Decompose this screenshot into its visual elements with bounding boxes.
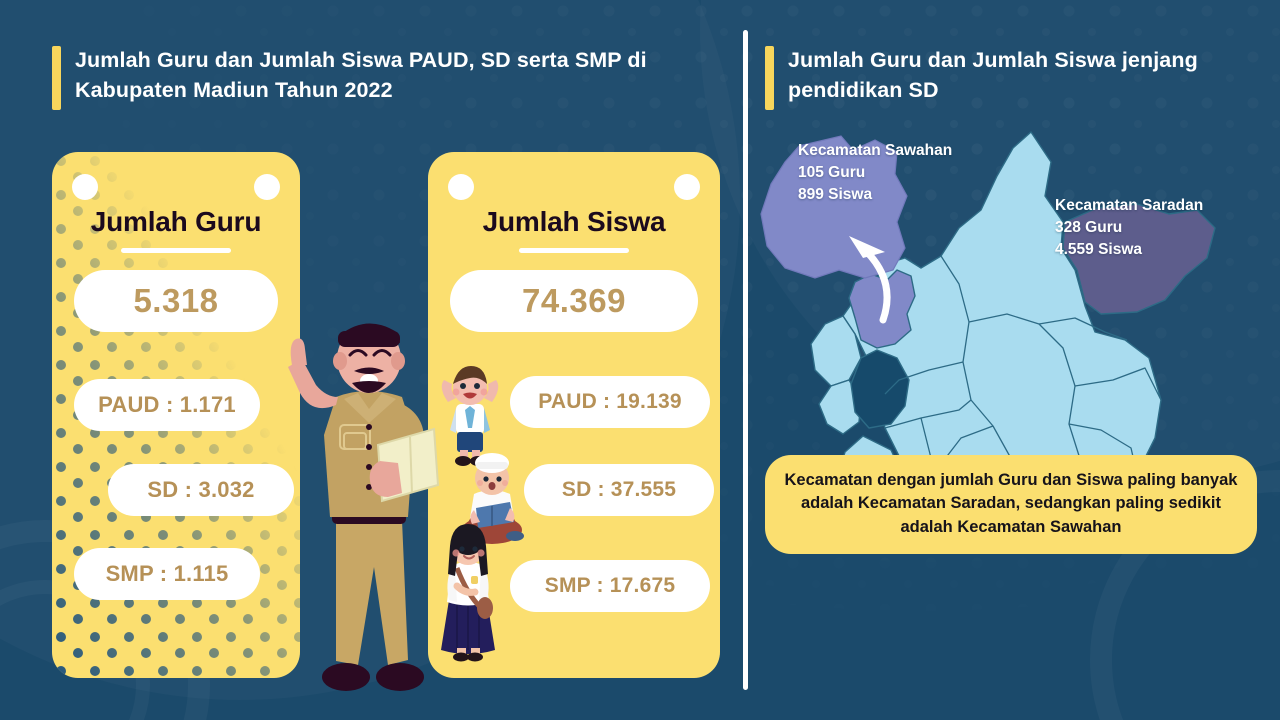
saradan-name: Kecamatan Saradan (1055, 195, 1203, 217)
title-accent-bar (765, 46, 774, 110)
card-punch-hole-right (254, 174, 280, 200)
guru-smp-pill: SMP : 1.115 (74, 548, 260, 600)
card-divider-rule (519, 248, 629, 253)
guru-paud-pill: PAUD : 1.171 (74, 379, 260, 431)
siswa-smp-pill: SMP : 17.675 (510, 560, 710, 612)
card-punch-hole-left (72, 174, 98, 200)
map-label-sawahan: Kecamatan Sawahan 105 Guru 899 Siswa (798, 140, 952, 206)
left-title-block: Jumlah Guru dan Jumlah Siswa PAUD, SD se… (52, 46, 712, 110)
siswa-sd-pill: SD : 37.555 (524, 464, 714, 516)
total-guru-value: 5.318 (74, 270, 278, 332)
card-punch-hole-left (448, 174, 474, 200)
right-title-block: Jumlah Guru dan Jumlah Siswa jenjang pen… (765, 46, 1235, 110)
right-panel: Jumlah Guru dan Jumlah Siswa jenjang pen… (745, 0, 1280, 720)
left-panel: Jumlah Guru dan Jumlah Siswa PAUD, SD se… (0, 0, 745, 720)
card-title-siswa: Jumlah Siswa (428, 206, 720, 238)
card-punch-hole-right (674, 174, 700, 200)
title-accent-bar (52, 46, 61, 110)
map-section-title: Jumlah Guru dan Jumlah Siswa jenjang pen… (788, 46, 1235, 105)
total-siswa-value: 74.369 (450, 270, 698, 332)
card-title-guru: Jumlah Guru (52, 206, 300, 238)
saradan-students: 4.559 Siswa (1055, 239, 1203, 261)
siswa-paud-pill: PAUD : 19.139 (510, 376, 710, 428)
student-smp-illustration (427, 522, 509, 662)
map-note-box: Kecamatan dengan jumlah Guru dan Siswa p… (765, 455, 1257, 554)
sawahan-name: Kecamatan Sawahan (798, 140, 952, 162)
page-title: Jumlah Guru dan Jumlah Siswa PAUD, SD se… (75, 46, 712, 105)
sawahan-students: 899 Siswa (798, 184, 952, 206)
sawahan-teachers: 105 Guru (798, 162, 952, 184)
saradan-teachers: 328 Guru (1055, 217, 1203, 239)
card-divider-rule (121, 248, 231, 253)
map-label-saradan: Kecamatan Saradan 328 Guru 4.559 Siswa (1055, 195, 1203, 261)
